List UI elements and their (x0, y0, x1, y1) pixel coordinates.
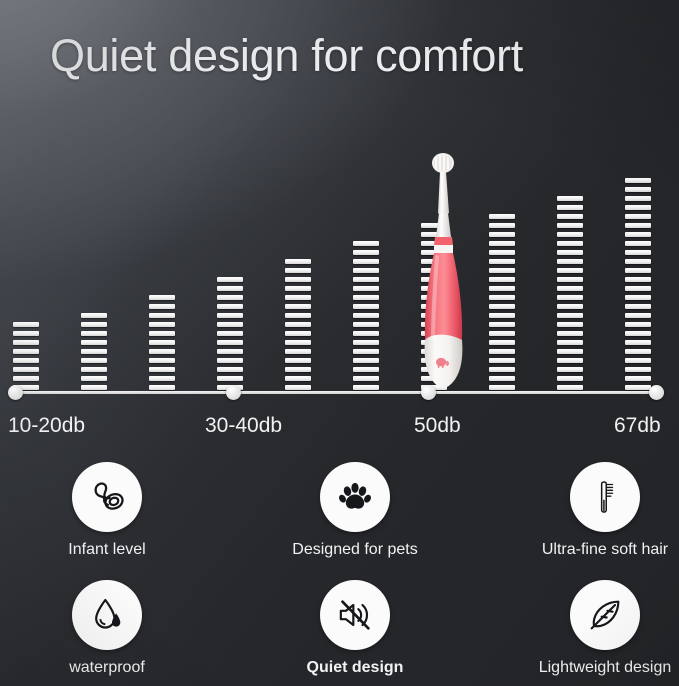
pacifier-icon (72, 462, 142, 532)
eq-bar-segment (285, 367, 311, 372)
eq-bar-segment (149, 304, 175, 309)
eq-bar-segment (489, 295, 515, 300)
eq-bar-segment (557, 313, 583, 318)
eq-bar-segment (557, 241, 583, 246)
feather-icon (570, 580, 640, 650)
toothbrush-product-image (415, 145, 471, 393)
mute-speaker-icon (320, 580, 390, 650)
eq-bar-segment (557, 340, 583, 345)
page-title: Quiet design for comfort (50, 24, 650, 88)
eq-bar-segment (285, 349, 311, 354)
feature-item: Designed for pets (265, 462, 445, 559)
water-drop-icon (72, 580, 142, 650)
eq-bar-segment (13, 349, 39, 354)
product-infographic: Quiet design for comfort 10-20db30-40db5… (0, 0, 679, 686)
eq-bar-segment (353, 367, 379, 372)
eq-bar-segment (149, 331, 175, 336)
eq-bar-segment (217, 331, 243, 336)
eq-bar-segment (489, 367, 515, 372)
eq-bar-segment (489, 286, 515, 291)
feature-label: Infant level (17, 541, 197, 559)
axis-line (15, 391, 664, 394)
eq-bar-segment (353, 349, 379, 354)
eq-bar-segment (81, 331, 107, 336)
eq-bar-segment (489, 277, 515, 282)
noise-level-bar-chart (0, 150, 679, 390)
eq-bar-segment (489, 250, 515, 255)
eq-bar-segment (149, 367, 175, 372)
eq-bar-segment (489, 349, 515, 354)
eq-bar-segment (353, 331, 379, 336)
eq-bar-segment (489, 340, 515, 345)
eq-bar-segment (149, 385, 175, 390)
eq-bar-segment (285, 340, 311, 345)
eq-bar-segment (217, 304, 243, 309)
eq-bar-segment (625, 367, 651, 372)
eq-bar-segment (81, 367, 107, 372)
eq-bar-segment (625, 259, 651, 264)
axis-tick-dot (226, 385, 241, 400)
feature-label: Designed for pets (265, 541, 445, 559)
eq-bar-segment (353, 322, 379, 327)
eq-bar-segment (81, 349, 107, 354)
feature-item: waterproof (17, 580, 197, 677)
paw-print-icon (320, 462, 390, 532)
eq-bar (13, 322, 39, 390)
eq-bar-segment (625, 250, 651, 255)
eq-bar-segment (285, 259, 311, 264)
feature-label: Ultra-fine soft hair (515, 541, 679, 559)
eq-bar-segment (557, 196, 583, 201)
eq-bar-segment (557, 286, 583, 291)
eq-bar-segment (557, 205, 583, 210)
eq-bar (217, 277, 243, 390)
eq-bar-segment (489, 385, 515, 390)
eq-bar-segment (353, 268, 379, 273)
eq-bar-segment (217, 322, 243, 327)
eq-bar-segment (217, 295, 243, 300)
feature-grid: Infant levelDesigned for petsUltra-fine … (0, 462, 679, 686)
eq-bar-segment (557, 376, 583, 381)
eq-bar-segment (625, 223, 651, 228)
eq-bar-segment (353, 250, 379, 255)
axis-tick-label: 50db (414, 414, 461, 438)
eq-bar (489, 214, 515, 390)
eq-bar-segment (557, 385, 583, 390)
eq-bar-segment (625, 187, 651, 192)
feature-label: Lightweight design (515, 659, 679, 677)
eq-bar-segment (489, 331, 515, 336)
eq-bar-segment (625, 376, 651, 381)
eq-bar-segment (557, 358, 583, 363)
eq-bar-segment (13, 367, 39, 372)
eq-bar-segment (217, 376, 243, 381)
eq-bar (285, 259, 311, 390)
eq-bar-segment (557, 322, 583, 327)
eq-bar-segment (217, 313, 243, 318)
eq-bar-segment (625, 385, 651, 390)
eq-bar-segment (489, 322, 515, 327)
toothbrush-icon (570, 462, 640, 532)
eq-bar-segment (285, 322, 311, 327)
eq-bar-segment (557, 259, 583, 264)
eq-bar-segment (353, 340, 379, 345)
eq-bar-segment (625, 349, 651, 354)
eq-bar-segment (217, 340, 243, 345)
eq-bar-segment (489, 358, 515, 363)
eq-bar-segment (489, 304, 515, 309)
eq-bar-segment (625, 331, 651, 336)
eq-bar-segment (353, 313, 379, 318)
eq-bar (557, 196, 583, 390)
eq-bar-segment (489, 241, 515, 246)
eq-bar-segment (625, 241, 651, 246)
eq-bar-segment (625, 214, 651, 219)
eq-bar-segment (625, 358, 651, 363)
eq-bar-segment (625, 268, 651, 273)
axis-tick-dot (8, 385, 23, 400)
eq-bar-segment (353, 376, 379, 381)
eq-bar-segment (625, 322, 651, 327)
eq-bar-segment (557, 250, 583, 255)
eq-bar-segment (625, 340, 651, 345)
eq-bar-segment (557, 304, 583, 309)
eq-bar-segment (625, 295, 651, 300)
eq-bar-segment (217, 358, 243, 363)
eq-bar-segment (217, 349, 243, 354)
eq-bar-segment (625, 304, 651, 309)
feature-label: Quiet design (265, 659, 445, 677)
eq-bar-segment (489, 313, 515, 318)
eq-bar-segment (625, 232, 651, 237)
feature-item: Infant level (17, 462, 197, 559)
eq-bar-segment (81, 385, 107, 390)
eq-bar-segment (285, 304, 311, 309)
feature-item: Lightweight design (515, 580, 679, 677)
eq-bar-segment (489, 214, 515, 219)
eq-bar-segment (149, 376, 175, 381)
eq-bar (353, 241, 379, 390)
eq-bar-segment (81, 322, 107, 327)
eq-bar-segment (149, 340, 175, 345)
axis-tick-label: 30-40db (205, 414, 282, 438)
eq-bar (625, 178, 651, 390)
feature-item: Quiet design (265, 580, 445, 677)
eq-bar-segment (149, 322, 175, 327)
eq-bar-segment (557, 214, 583, 219)
eq-bar-segment (625, 196, 651, 201)
eq-bar-segment (625, 178, 651, 183)
eq-bar-segment (149, 349, 175, 354)
eq-bar-segment (353, 277, 379, 282)
eq-bar-segment (81, 340, 107, 345)
eq-bar-segment (285, 268, 311, 273)
eq-bar-segment (217, 367, 243, 372)
eq-bar-segment (353, 385, 379, 390)
eq-bar-segment (285, 277, 311, 282)
eq-bar-segment (285, 286, 311, 291)
axis-tick-label: 10-20db (8, 414, 85, 438)
feature-item: Ultra-fine soft hair (515, 462, 679, 559)
eq-bar-segment (217, 277, 243, 282)
eq-bar-segment (353, 259, 379, 264)
eq-bar-segment (81, 376, 107, 381)
eq-bar-segment (13, 331, 39, 336)
eq-bar-segment (285, 313, 311, 318)
eq-bar-segment (557, 331, 583, 336)
eq-bar-segment (557, 232, 583, 237)
eq-bar-segment (625, 286, 651, 291)
eq-bar-segment (13, 340, 39, 345)
eq-bar-segment (557, 295, 583, 300)
eq-bar-segment (13, 322, 39, 327)
eq-bar-segment (625, 205, 651, 210)
eq-bar-segment (489, 223, 515, 228)
eq-bar-segment (625, 313, 651, 318)
eq-bar-segment (217, 286, 243, 291)
eq-bar-segment (489, 376, 515, 381)
eq-bar-segment (353, 358, 379, 363)
eq-bar (149, 295, 175, 390)
eq-bar-segment (285, 385, 311, 390)
eq-bar-segment (489, 259, 515, 264)
eq-bar-segment (149, 313, 175, 318)
feature-label: waterproof (17, 659, 197, 677)
eq-bar-segment (285, 358, 311, 363)
eq-bar-segment (557, 223, 583, 228)
eq-bar-segment (489, 232, 515, 237)
eq-bar (81, 313, 107, 390)
eq-bar-segment (81, 358, 107, 363)
eq-bar-segment (489, 268, 515, 273)
eq-bar-segment (13, 358, 39, 363)
eq-bar-segment (625, 277, 651, 282)
eq-bar-segment (285, 295, 311, 300)
eq-bar-segment (285, 376, 311, 381)
eq-bar-segment (353, 241, 379, 246)
eq-bar-segment (285, 331, 311, 336)
eq-bar-segment (81, 313, 107, 318)
eq-bar-segment (557, 268, 583, 273)
axis-tick-label: 67db (614, 414, 661, 438)
eq-bar-segment (149, 358, 175, 363)
eq-bar-segment (353, 295, 379, 300)
eq-bar-segment (557, 367, 583, 372)
eq-bar-segment (353, 304, 379, 309)
eq-bar-segment (13, 376, 39, 381)
eq-bar-segment (353, 286, 379, 291)
eq-bar-segment (557, 349, 583, 354)
eq-bar-segment (557, 277, 583, 282)
axis-tick-dot (649, 385, 664, 400)
eq-bar-segment (149, 295, 175, 300)
